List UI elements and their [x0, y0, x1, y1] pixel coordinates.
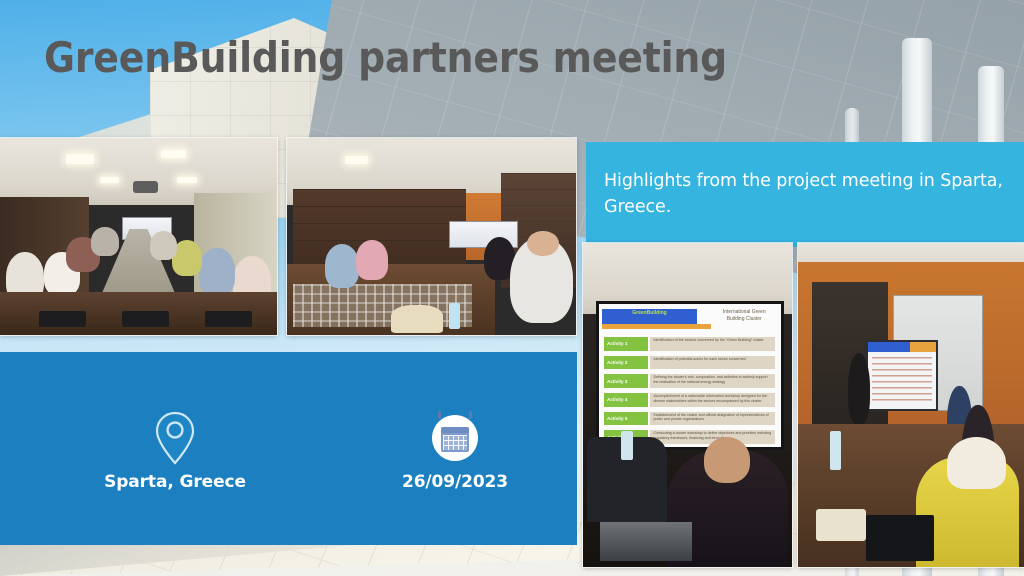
info-label-date: 26/09/2023 — [370, 472, 540, 492]
slide-activity-row: Activity 4 Accomplishment of a nationwid… — [604, 392, 775, 408]
photo-bag — [391, 305, 443, 333]
photo-meeting-room — [287, 138, 576, 335]
photo-water-bottle — [830, 431, 841, 470]
calendar-header — [441, 427, 469, 433]
photo-water-bottle — [621, 431, 634, 460]
location-pin-icon — [90, 410, 260, 466]
photo-person-head — [704, 437, 750, 482]
calendar-body — [441, 427, 469, 452]
photo-laptop — [600, 522, 692, 561]
ceiling-light-icon — [177, 177, 196, 183]
activity-text: Identification of the sectors concerned … — [650, 337, 775, 351]
info-items: Sparta, Greece 26/09/2023 — [90, 410, 540, 492]
activity-text: Identification of potential actors for e… — [650, 356, 775, 370]
activity-text: Defining the cluster's role, composition… — [650, 374, 775, 388]
activity-text: Accomplishment of a nationwide informati… — [650, 393, 775, 407]
photo-person — [150, 231, 178, 261]
activity-label: Activity 5 — [604, 412, 649, 426]
photo-person-head — [527, 231, 559, 257]
photo-person — [356, 240, 388, 279]
photo-perforated-panel — [293, 284, 472, 327]
info-label-location: Sparta, Greece — [90, 472, 260, 492]
slide-canvas: GreenBuilding partners meeting — [0, 0, 1024, 576]
page-title: GreenBuilding partners meeting — [44, 33, 727, 82]
calendar-grid — [443, 435, 467, 450]
slide-activity-row: Activity 3 Defining the cluster's role, … — [604, 373, 775, 389]
activity-label: Activity 3 — [604, 374, 649, 388]
ceiling-light-icon — [66, 154, 94, 164]
photo-conference-table — [0, 138, 277, 335]
highlights-text: Highlights from the project meeting in S… — [604, 169, 1006, 220]
ceiling-projector-icon — [133, 181, 158, 193]
slide-accent-bar — [602, 324, 711, 328]
ceiling-light-icon — [100, 177, 119, 183]
info-panel: Sparta, Greece 26/09/2023 — [0, 352, 577, 545]
photo-audience-projection — [798, 243, 1024, 567]
screen-header-bar — [868, 342, 936, 351]
photo-presentation-screen — [866, 340, 938, 411]
activity-label: Activity 1 — [604, 337, 649, 351]
slide-title: International Green Building Cluster — [713, 309, 775, 324]
photo-microphone-icon — [39, 311, 86, 327]
slide-activity-row: Activity 1 Identification of the sectors… — [604, 336, 775, 352]
photo-microphone-icon — [122, 311, 169, 327]
highlights-callout: Highlights from the project meeting in S… — [586, 142, 1024, 247]
calendar-ring — [469, 411, 472, 419]
photo-papers — [816, 509, 866, 541]
slide-activity-row: Activity 5 Establishment of the cluster … — [604, 410, 775, 426]
slide-header-label: GreenBuilding — [602, 309, 697, 319]
photo-microphone-icon — [205, 311, 252, 327]
photo-person — [199, 248, 235, 295]
activity-label: Activity 4 — [604, 393, 649, 407]
photo-person — [91, 227, 119, 257]
slide-header-bar: GreenBuilding — [602, 309, 697, 325]
photo-water-bottle — [449, 303, 461, 329]
photo-person — [848, 353, 871, 424]
info-item-location: Sparta, Greece — [90, 410, 260, 492]
ceiling-light-icon — [161, 150, 186, 158]
info-item-date: 26/09/2023 — [370, 410, 540, 492]
photo-person-head — [947, 437, 1006, 489]
ceiling-light-icon — [345, 156, 368, 164]
calendar-icon-circle — [432, 415, 478, 461]
activity-label: Activity 2 — [604, 356, 649, 370]
calendar-icon — [370, 410, 540, 466]
presentation-slide: GreenBuilding International Green Buildi… — [596, 301, 784, 450]
activity-text: Establishment of the cluster and officia… — [650, 412, 775, 426]
slide-activity-row: Activity 2 Identification of potential a… — [604, 354, 775, 370]
screen-text-lines — [872, 357, 932, 404]
photo-person — [325, 244, 360, 287]
slide-activity-rows: Activity 1 Identification of the sectors… — [604, 336, 775, 443]
photo-presenter-slide: GreenBuilding International Green Buildi… — [583, 243, 792, 567]
photo-laptop — [866, 515, 934, 560]
calendar-ring — [438, 411, 441, 419]
